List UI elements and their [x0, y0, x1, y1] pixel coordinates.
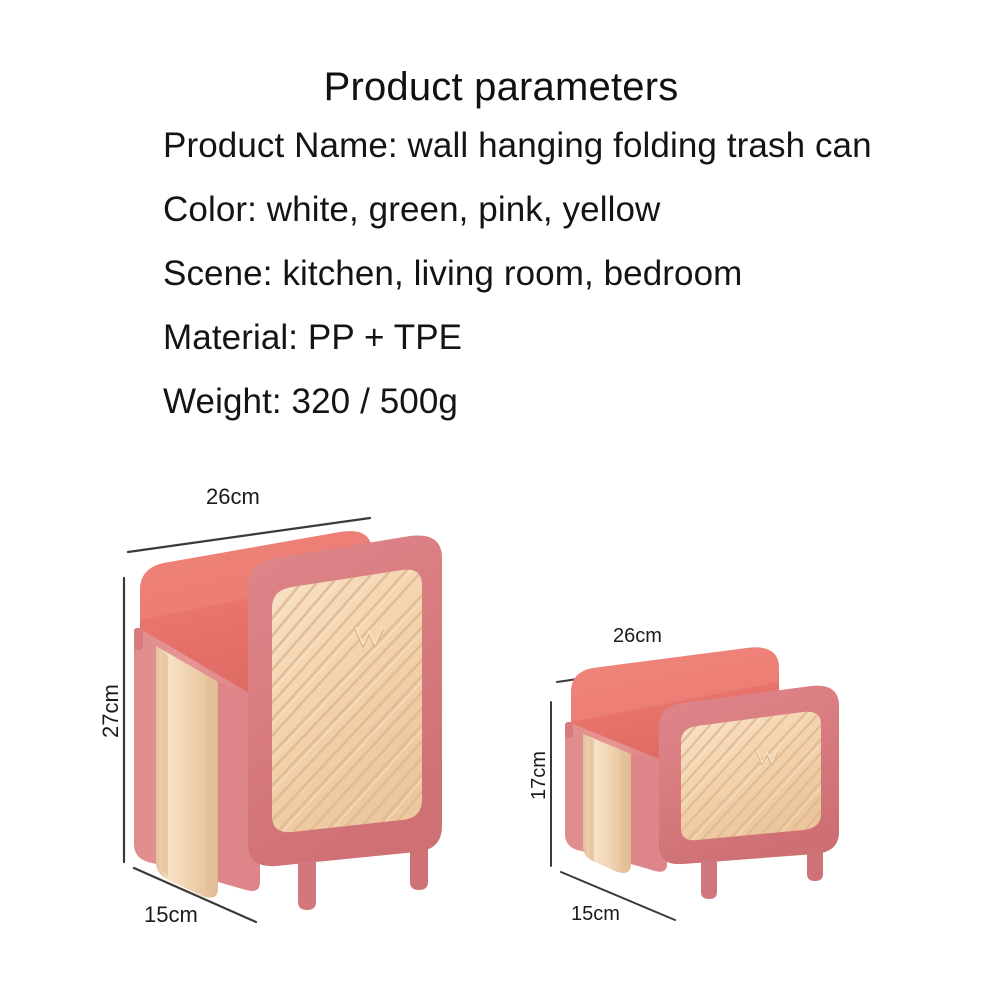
dimension-label-height-large: 27cm	[98, 684, 123, 738]
spec-line-material: Material: PP + TPE	[163, 318, 462, 358]
product-image-large: 26cm 27cm 15cm	[110, 470, 530, 940]
dimension-label-depth-small: 15cm	[571, 903, 620, 925]
dimension-label-width-large: 26cm	[206, 484, 260, 509]
product-image-small: 26cm 17cm 15cm	[535, 610, 875, 940]
spec-line-weight: Weight: 320 / 500g	[163, 382, 458, 422]
dimension-depth-small: 15cm	[561, 872, 675, 925]
spec-line-color: Color: white, green, pink, yellow	[163, 190, 660, 230]
product-parameters-panel: Product parameters Product Name: wall ha…	[0, 0, 1002, 450]
dimension-height-large: 27cm	[98, 578, 124, 862]
dimension-label-width-small: 26cm	[613, 625, 662, 647]
spec-line-scene: Scene: kitchen, living room, bedroom	[163, 254, 742, 294]
spec-line-product-name: Product Name: wall hanging folding trash…	[163, 126, 872, 166]
dimension-label-depth-large: 15cm	[144, 902, 198, 927]
bin-folding-bellows-small	[583, 734, 631, 873]
bin-folding-bellows-large	[156, 646, 218, 898]
product-illustration-area: 26cm 27cm 15cm	[0, 450, 1002, 1002]
dimension-label-height-small: 17cm	[528, 751, 550, 800]
dimension-height-small: 17cm	[528, 702, 551, 866]
page-title: Product parameters	[0, 65, 1002, 110]
